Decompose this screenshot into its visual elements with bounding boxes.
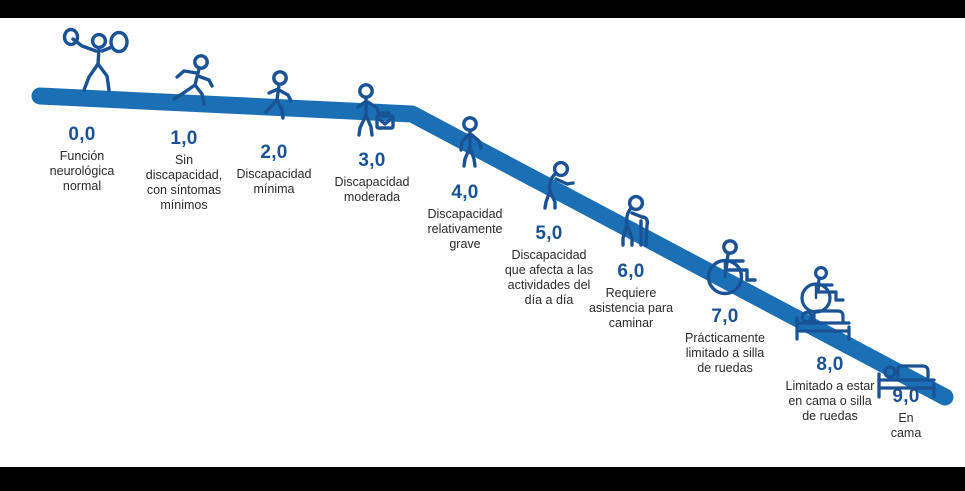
icon-step-4: [448, 114, 494, 168]
step-value-7: 7,0: [672, 306, 778, 328]
step-value-8: 8,0: [774, 354, 886, 376]
person-with-briefcase-icon: [348, 80, 400, 136]
infographic-stage: 0,0 Funciónneurológicanormal 1,0 Sindisc…: [0, 0, 965, 491]
step-desc-0: Funciónneurológicanormal: [36, 149, 128, 193]
icon-step-2: [253, 68, 303, 120]
step-desc-6: Requiereasistencia paracaminar: [578, 286, 684, 330]
walking-person-icon: [253, 68, 303, 120]
step-label-7: 7,0 Prácticamentelimitado a sillade rued…: [672, 306, 778, 376]
step-label-6: 6,0 Requiereasistencia paracaminar: [578, 261, 684, 331]
step-desc-2: Discapacidadmínima: [222, 167, 326, 197]
tennis-player-icon: [62, 30, 134, 92]
person-with-cane-icon: [614, 190, 662, 246]
step-value-9: 9,0: [880, 386, 932, 408]
step-label-8: 8,0 Limitado a estaren cama o sillade ru…: [774, 354, 886, 424]
icon-step-3: [348, 80, 400, 136]
step-desc-7: Prácticamentelimitado a sillade ruedas: [672, 331, 778, 375]
icon-step-7: [699, 238, 761, 296]
icon-step-6: [614, 190, 662, 246]
edss-scale-canvas: 0,0 Funciónneurológicanormal 1,0 Sindisc…: [0, 18, 965, 467]
step-value-5: 5,0: [491, 223, 607, 245]
step-label-0: 0,0 Funciónneurológicanormal: [36, 124, 128, 194]
icon-step-1: [168, 52, 226, 108]
step-value-4: 4,0: [413, 182, 517, 204]
step-desc-9: Encama: [880, 411, 932, 441]
stooped-person-icon: [533, 155, 583, 209]
letterbox-top-bar: [0, 0, 965, 18]
step-value-2: 2,0: [222, 142, 326, 164]
running-person-icon: [168, 52, 226, 108]
step-value-3: 3,0: [320, 150, 424, 172]
step-label-9: 9,0 Encama: [880, 386, 932, 441]
icon-step-5: [533, 155, 583, 209]
step-value-0: 0,0: [36, 124, 128, 146]
step-value-1: 1,0: [134, 128, 234, 150]
icon-step-8: [791, 265, 855, 343]
step-label-3: 3,0 Discapacidadmoderada: [320, 150, 424, 205]
step-value-6: 6,0: [578, 261, 684, 283]
icon-step-0: [62, 30, 134, 92]
step-desc-1: Sindiscapacidad,con síntomasmínimos: [134, 153, 234, 212]
letterbox-bottom-bar: [0, 467, 965, 491]
step-desc-8: Limitado a estaren cama o sillade ruedas: [774, 379, 886, 423]
wheelchair-and-bed-icon: [791, 265, 855, 343]
wheelchair-icon: [699, 238, 761, 296]
step-label-2: 2,0 Discapacidadmínima: [222, 142, 326, 197]
slow-walking-person-icon: [448, 114, 494, 168]
step-desc-3: Discapacidadmoderada: [320, 175, 424, 205]
step-label-1: 1,0 Sindiscapacidad,con síntomasmínimos: [134, 128, 234, 212]
